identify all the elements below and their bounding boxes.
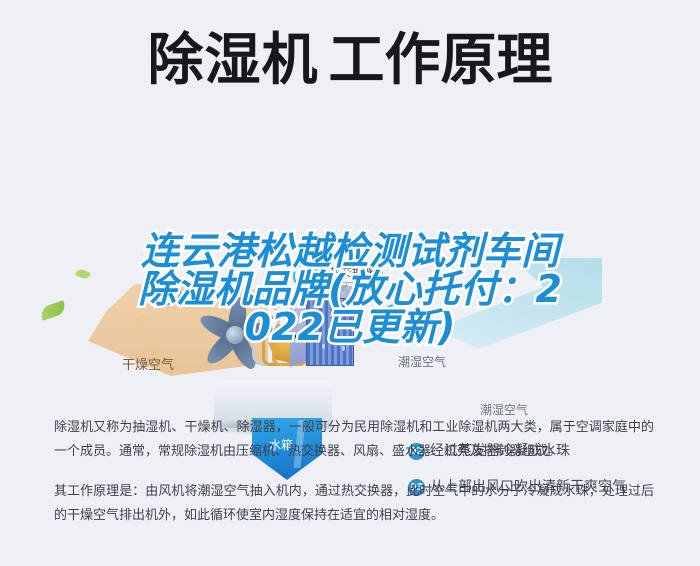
- article-body: 除湿机又称为抽湿机、干燥机、除湿器，一般可分为民用除湿机和工业除湿机两大类，属于…: [54, 416, 654, 544]
- page-title-part-a: 除湿机: [148, 28, 319, 93]
- paragraph-2: 其工作原理是：由风机将潮湿空气抽入机内，通过热交换器，此时空气中的水分子冷凝成水…: [54, 480, 654, 528]
- water-drop-icon: [322, 344, 325, 349]
- heat-exchanger: [300, 294, 362, 366]
- water-drop-icon: [316, 312, 319, 317]
- water-drop-icon: [328, 328, 331, 333]
- water-drop-icon: [342, 346, 345, 351]
- diagram-illustration: 干燥空气 03 02 热交换器 01 潮湿: [0, 118, 700, 408]
- leaf-icon: [75, 267, 91, 280]
- page-root: 除湿机工作原理 干燥空气 03: [0, 0, 700, 566]
- marker-03: 03: [155, 279, 181, 305]
- page-title-part-b: 工作原理: [329, 28, 553, 93]
- callout-heat-exchanger: 热交换器: [321, 261, 383, 283]
- fan-hub: [226, 326, 244, 344]
- page-title-wrap: 除湿机工作原理: [0, 28, 700, 94]
- paragraph-1: 除湿机又称为抽湿机、干燥机、除湿器，一般可分为民用除湿机和工业除湿机两大类，属于…: [54, 416, 654, 464]
- airflow-arrow-icon: [290, 332, 316, 341]
- leaf-icon: [39, 300, 68, 320]
- dry-air-label: 干燥空气: [122, 354, 174, 373]
- marker-01: 01: [382, 304, 408, 330]
- page-title: 除湿机工作原理: [148, 28, 553, 94]
- marker-02: 02: [293, 263, 319, 289]
- callout-pointer: [338, 285, 348, 292]
- humid-air-label: 潮湿空气: [398, 353, 446, 370]
- water-drop-icon: [338, 316, 341, 321]
